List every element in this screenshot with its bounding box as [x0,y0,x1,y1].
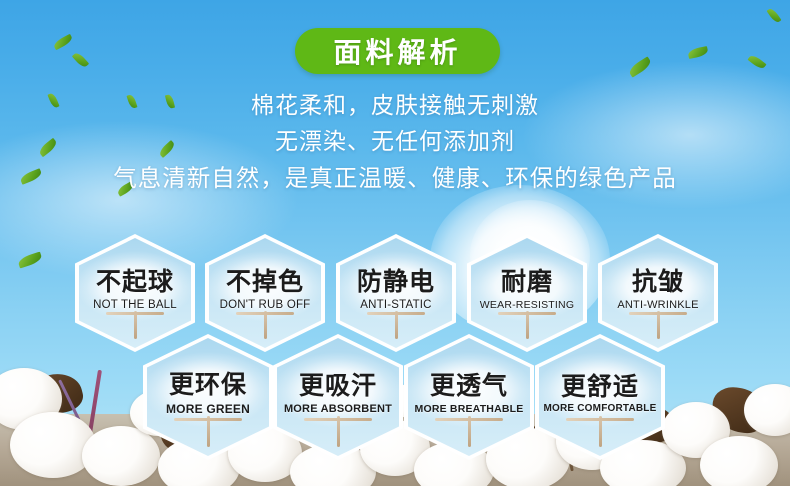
feature-title-cn: 不掉色 [226,269,304,295]
hex-label-group: 耐磨 WEAR-RESISTING [480,269,574,316]
subtitle-line-1: 棉花柔和，皮肤接触无刺激 [0,88,790,124]
feature-hex-wear-resisting[interactable]: 耐磨 WEAR-RESISTING [467,234,587,352]
leaf-icon [767,7,782,24]
feature-hex-anti-wrinkle[interactable]: 抗皱 ANTI-WRINKLE [598,234,718,352]
feature-title-cn: 更环保 [169,372,247,398]
cotton-boll [10,412,96,478]
promo-banner: 面料解析 棉花柔和，皮肤接触无刺激 无漂染、无任何添加剂 气息清新自然，是真正温… [0,0,790,486]
feature-title-en: MORE GREEN [166,402,250,416]
hex-label-group: 不掉色 DON'T RUB OFF [220,269,311,316]
leaf-icon [687,46,708,59]
cotton-boll [82,426,160,486]
leaf-icon [17,252,43,269]
subtitle-block: 棉花柔和，皮肤接触无刺激 无漂染、无任何添加剂 气息清新自然，是真正温暖、健康、… [0,88,790,196]
feature-title-cn: 更吸汗 [299,373,377,399]
hex-label-group: 更吸汗 MORE ABSORBENT [284,373,392,420]
feature-title-cn: 防静电 [357,269,435,295]
leaf-icon [747,53,766,70]
leaf-icon [52,34,73,50]
cotton-boll [700,436,778,486]
feature-title-en: ANTI-WRINKLE [617,299,698,311]
feature-title-cn: 耐磨 [501,269,553,295]
feature-title-cn: 更舒适 [561,374,639,400]
subtitle-line-3: 气息清新自然，是真正温暖、健康、环保的绿色产品 [0,160,790,196]
feature-title-en: MORE COMFORTABLE [543,403,656,414]
hex-label-group: 抗皱 ANTI-WRINKLE [617,269,698,316]
hex-label-group: 更舒适 MORE COMFORTABLE [543,374,656,420]
feature-title-cn: 抗皱 [632,269,684,295]
hex-label-group: 更环保 MORE GREEN [166,372,250,421]
feature-hex-dont-rub-off[interactable]: 不掉色 DON'T RUB OFF [205,234,325,352]
feature-title-en: MORE ABSORBENT [284,403,392,415]
leaf-icon [72,51,89,69]
leaf-icon [627,56,653,77]
feature-title-en: WEAR-RESISTING [480,299,574,311]
title-text: 面料解析 [333,31,461,71]
hex-label-group: 不起球 NOT THE BALL [93,269,177,316]
feature-title-en: DON'T RUB OFF [220,299,311,311]
subtitle-line-2: 无漂染、无任何添加剂 [0,124,790,160]
hex-label-group: 更透气 MORE BREATHABLE [415,373,524,420]
feature-title-en: NOT THE BALL [93,299,177,311]
feature-hex-not-the-ball[interactable]: 不起球 NOT THE BALL [75,234,195,352]
feature-hex-anti-static[interactable]: 防静电 ANTI-STATIC [336,234,456,352]
title-badge: 面料解析 [295,28,500,74]
feature-title-cn: 不起球 [96,269,174,295]
feature-title-en: ANTI-STATIC [360,299,431,311]
feature-title-en: MORE BREATHABLE [415,403,524,415]
hex-label-group: 防静电 ANTI-STATIC [357,269,435,316]
feature-title-cn: 更透气 [430,373,508,399]
